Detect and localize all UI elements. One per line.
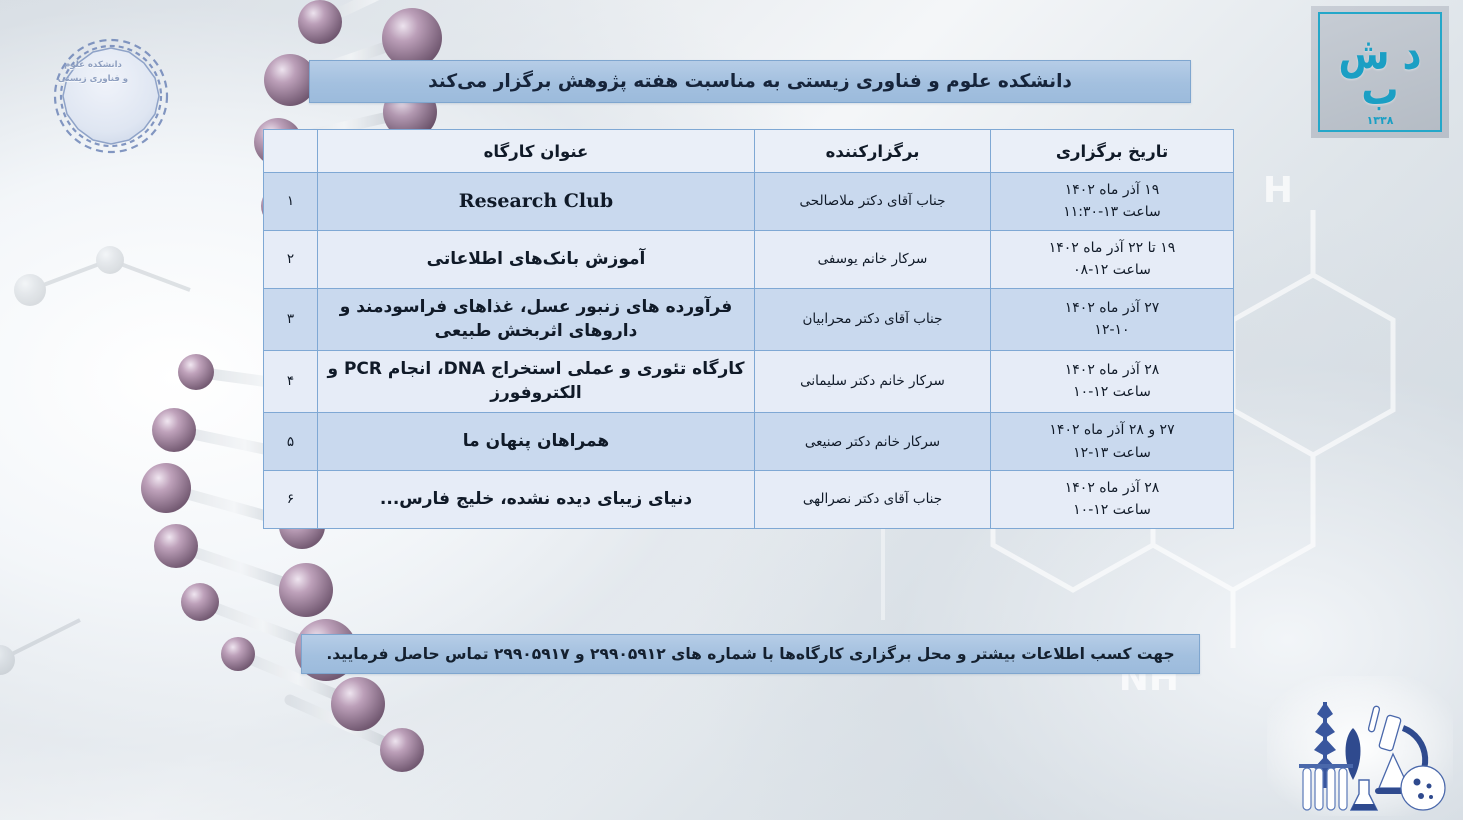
cell-row-number: ۳ [264, 288, 318, 350]
cell-date-line2: ساعت ۱۳-۱۱:۳۰ [999, 201, 1225, 223]
cell-row-number: ۱ [264, 173, 318, 231]
test-tubes-icon [1299, 764, 1353, 810]
cell-workshop-title: همراهان پنهان ما [318, 413, 755, 471]
column-header-title: عنوان کارگاه [318, 130, 755, 173]
column-header-number [264, 130, 318, 173]
faculty-seal-label: دانشکده علوم و فناوری زیستی [18, 58, 168, 87]
cell-row-number: ۶ [264, 470, 318, 528]
microscope-icon [1368, 706, 1425, 794]
university-logo-calligraphy: د ش ب [1320, 36, 1440, 108]
cell-workshop-title: آموزش بانک‌های اطلاعاتی [318, 230, 755, 288]
cell-date: ۲۸ آذر ماه ۱۴۰۲ساعت ۱۲-۱۰ [991, 470, 1234, 528]
cell-organizer: جناب آقای دکتر ملاصالحی [755, 173, 991, 231]
cell-date-line2: ساعت ۱۲-۰۸ [999, 259, 1225, 281]
cell-row-number: ۴ [264, 350, 318, 412]
column-header-organizer: برگزارکننده [755, 130, 991, 173]
faculty-seal-line2: و فناوری زیستی [18, 72, 168, 86]
cell-workshop-title: کارگاه تئوری و عملی استخراج DNA، انجام P… [318, 350, 755, 412]
table-row: ۱۹ آذر ماه ۱۴۰۲ساعت ۱۳-۱۱:۳۰جناب آقای دک… [264, 173, 1234, 231]
cell-date-line2: ساعت ۱۲-۱۰ [999, 381, 1225, 403]
cell-row-number: ۵ [264, 413, 318, 471]
column-header-date: تاریخ برگزاری [991, 130, 1234, 173]
shahid-beheshti-university-logo: د ش ب ۱۳۳۸ [1311, 6, 1449, 138]
cell-date: ۲۷ آذر ماه ۱۴۰۲۱۲-۱۰ [991, 288, 1234, 350]
table-row: ۲۷ و ۲۸ آذر ماه ۱۴۰۲ساعت ۱۳-۱۲سرکار خانم… [264, 413, 1234, 471]
faculty-seal-icon [36, 36, 186, 156]
cell-date-line1: ۲۷ و ۲۸ آذر ماه ۱۴۰۲ [999, 419, 1225, 441]
table-header: تاریخ برگزاری برگزارکننده عنوان کارگاه [264, 130, 1234, 173]
cell-date-line2: ۱۲-۱۰ [999, 319, 1225, 341]
contact-info-banner: جهت کسب اطلاعات بیشتر و محل برگزاری کارگ… [301, 634, 1200, 674]
leaf-icon [1346, 728, 1361, 780]
cell-date: ۲۸ آذر ماه ۱۴۰۲ساعت ۱۲-۱۰ [991, 350, 1234, 412]
faculty-seal-logo: دانشکده علوم و فناوری زیستی [18, 18, 168, 140]
cell-icon [1401, 766, 1445, 810]
cell-date-line1: ۱۹ آذر ماه ۱۴۰۲ [999, 179, 1225, 201]
cell-organizer: سرکار خانم دکتر صنیعی [755, 413, 991, 471]
poster-title: دانشکده علوم و فناوری زیستی به مناسبت هف… [428, 71, 1072, 92]
cell-organizer: سرکار خانم دکتر سلیمانی [755, 350, 991, 412]
chem-label-h: H [1263, 170, 1293, 211]
biotech-lab-illustration [1267, 676, 1453, 816]
cell-workshop-title: دنیای زیبای دیده نشده، خلیج فارس... [318, 470, 755, 528]
cell-date: ۱۹ تا ۲۲ آذر ماه ۱۴۰۲ساعت ۱۲-۰۸ [991, 230, 1234, 288]
flask-icon [1351, 780, 1377, 810]
cell-row-number: ۲ [264, 230, 318, 288]
cell-date-line2: ساعت ۱۲-۱۰ [999, 499, 1225, 521]
cell-workshop-title: فرآورده های زنبور عسل، غذاهای فراسودمند … [318, 288, 755, 350]
cell-organizer: سرکار خانم یوسفی [755, 230, 991, 288]
table-header-row: تاریخ برگزاری برگزارکننده عنوان کارگاه [264, 130, 1234, 173]
table-row: ۱۹ تا ۲۲ آذر ماه ۱۴۰۲ساعت ۱۲-۰۸سرکار خان… [264, 230, 1234, 288]
table-row: ۲۷ آذر ماه ۱۴۰۲۱۲-۱۰جناب آقای دکتر محراب… [264, 288, 1234, 350]
university-logo-frame: د ش ب ۱۳۳۸ [1318, 12, 1442, 132]
cell-date: ۱۹ آذر ماه ۱۴۰۲ساعت ۱۳-۱۱:۳۰ [991, 173, 1234, 231]
workshops-table: تاریخ برگزاری برگزارکننده عنوان کارگاه ۱… [263, 129, 1234, 529]
university-logo-year: ۱۳۳۸ [1320, 114, 1440, 127]
cell-date-line2: ساعت ۱۳-۱۲ [999, 442, 1225, 464]
cell-date-line1: ۲۸ آذر ماه ۱۴۰۲ [999, 477, 1225, 499]
cell-organizer: جناب آقای دکتر محرابیان [755, 288, 991, 350]
wheat-plant-icon [1314, 702, 1336, 788]
cell-organizer: جناب آقای دکتر نصرالهی [755, 470, 991, 528]
faculty-seal-line1: دانشکده علوم [18, 58, 168, 72]
table-body: ۱۹ آذر ماه ۱۴۰۲ساعت ۱۳-۱۱:۳۰جناب آقای دک… [264, 173, 1234, 529]
cell-date-line1: ۲۸ آذر ماه ۱۴۰۲ [999, 359, 1225, 381]
cell-date-line1: ۲۷ آذر ماه ۱۴۰۲ [999, 297, 1225, 319]
poster-title-banner: دانشکده علوم و فناوری زیستی به مناسبت هف… [309, 60, 1191, 103]
cell-workshop-title: Research Club [318, 173, 755, 231]
cell-date: ۲۷ و ۲۸ آذر ماه ۱۴۰۲ساعت ۱۳-۱۲ [991, 413, 1234, 471]
contact-info-text: جهت کسب اطلاعات بیشتر و محل برگزاری کارگ… [326, 645, 1174, 663]
table-row: ۲۸ آذر ماه ۱۴۰۲ساعت ۱۲-۱۰سرکار خانم دکتر… [264, 350, 1234, 412]
poster-canvas: CH3 H NH [0, 0, 1463, 820]
cell-date-line1: ۱۹ تا ۲۲ آذر ماه ۱۴۰۲ [999, 237, 1225, 259]
table-row: ۲۸ آذر ماه ۱۴۰۲ساعت ۱۲-۱۰جناب آقای دکتر … [264, 470, 1234, 528]
